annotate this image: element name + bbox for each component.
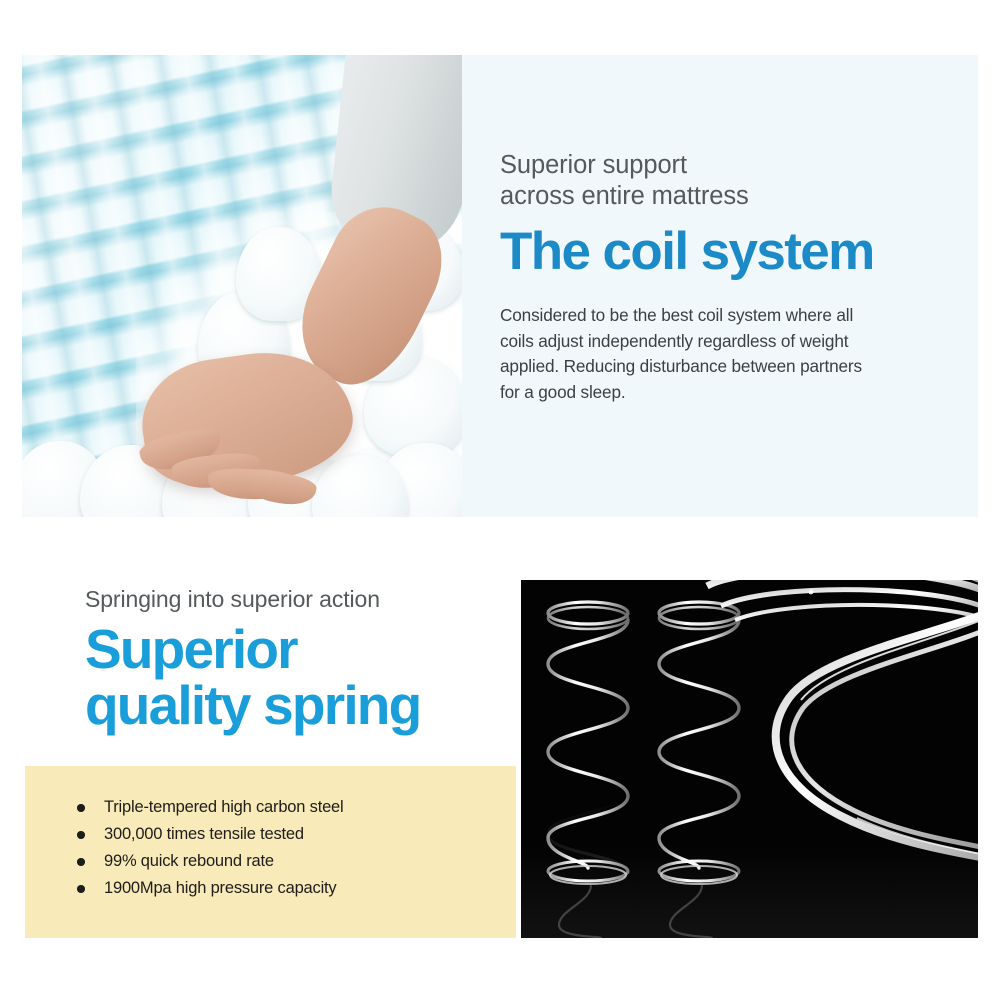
feature-text: Triple-tempered high carbon steel bbox=[104, 798, 344, 816]
coil-body-copy: Considered to be the best coil system wh… bbox=[500, 303, 875, 405]
coil-eyebrow-line1: Superior support bbox=[500, 151, 687, 179]
spring-feature-box: Triple-tempered high carbon steel 300,00… bbox=[25, 766, 516, 938]
spring-headline: Superior quality spring bbox=[85, 621, 515, 733]
coil-system-text-column: Superior support across entire mattress … bbox=[500, 55, 970, 405]
feature-text: 99% quick rebound rate bbox=[104, 852, 274, 870]
infographic-page: Superior support across entire mattress … bbox=[0, 0, 1000, 1000]
coil-eyebrow: Superior support across entire mattress bbox=[500, 150, 970, 212]
feature-text: 300,000 times tensile tested bbox=[104, 825, 304, 843]
coil-system-section: Superior support across entire mattress … bbox=[22, 55, 978, 517]
glint bbox=[809, 590, 814, 595]
floor-reflection-glow bbox=[521, 845, 978, 938]
spring-feature-list: Triple-tempered high carbon steel 300,00… bbox=[77, 794, 516, 902]
list-item: 1900Mpa high pressure capacity bbox=[77, 875, 516, 902]
bullet-icon bbox=[77, 804, 85, 812]
list-item: 300,000 times tensile tested bbox=[77, 821, 516, 848]
spring-headline-line1: Superior bbox=[85, 618, 297, 680]
bullet-icon bbox=[77, 885, 85, 893]
spring-text-column: Springing into superior action Superior … bbox=[85, 585, 515, 733]
pocket-spring-mattress-photo bbox=[22, 55, 462, 517]
coil-spring-large bbox=[707, 580, 978, 866]
coil-headline: The coil system bbox=[500, 222, 970, 282]
bullet-icon bbox=[77, 831, 85, 839]
coil-eyebrow-line2: across entire mattress bbox=[500, 182, 749, 210]
bullet-icon bbox=[77, 858, 85, 866]
list-item: Triple-tempered high carbon steel bbox=[77, 794, 516, 821]
list-item: 99% quick rebound rate bbox=[77, 848, 516, 875]
spring-headline-line2: quality spring bbox=[85, 674, 420, 736]
feature-text: 1900Mpa high pressure capacity bbox=[104, 879, 336, 897]
coil-springs-photo bbox=[521, 580, 978, 938]
spring-eyebrow: Springing into superior action bbox=[85, 585, 515, 613]
